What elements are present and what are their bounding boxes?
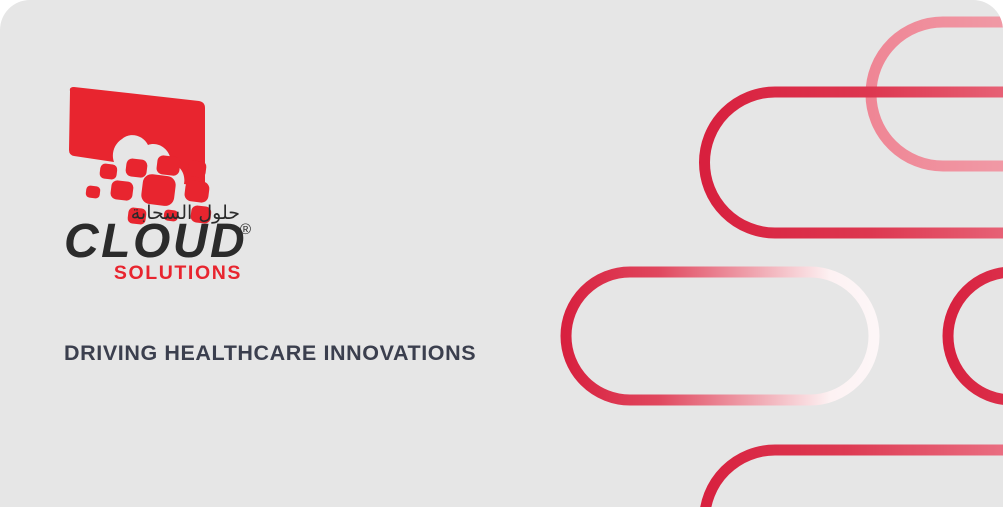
pill-right-edge-red	[948, 272, 1003, 400]
logo-registered-symbol: ®	[240, 221, 251, 238]
logo-wordmark: حلول السحابة CLOUD ® SOLUTIONS	[64, 198, 264, 288]
logo-cloud-text: CLOUD	[64, 215, 247, 268]
cloud-solutions-logo: حلول السحابة CLOUD ® SOLUTIONS	[64, 82, 264, 282]
pill-middle-red-fade	[566, 272, 874, 400]
brand-banner: حلول السحابة CLOUD ® SOLUTIONS DRIVING H…	[0, 0, 1003, 507]
pill-bottom-red-fade	[705, 450, 1003, 507]
logo-solutions-text: SOLUTIONS	[114, 262, 242, 284]
pill-top-right-pink	[871, 22, 1003, 166]
pill-upper-red	[705, 92, 1003, 233]
banner-tagline: DRIVING HEALTHCARE INNOVATIONS	[64, 341, 476, 366]
